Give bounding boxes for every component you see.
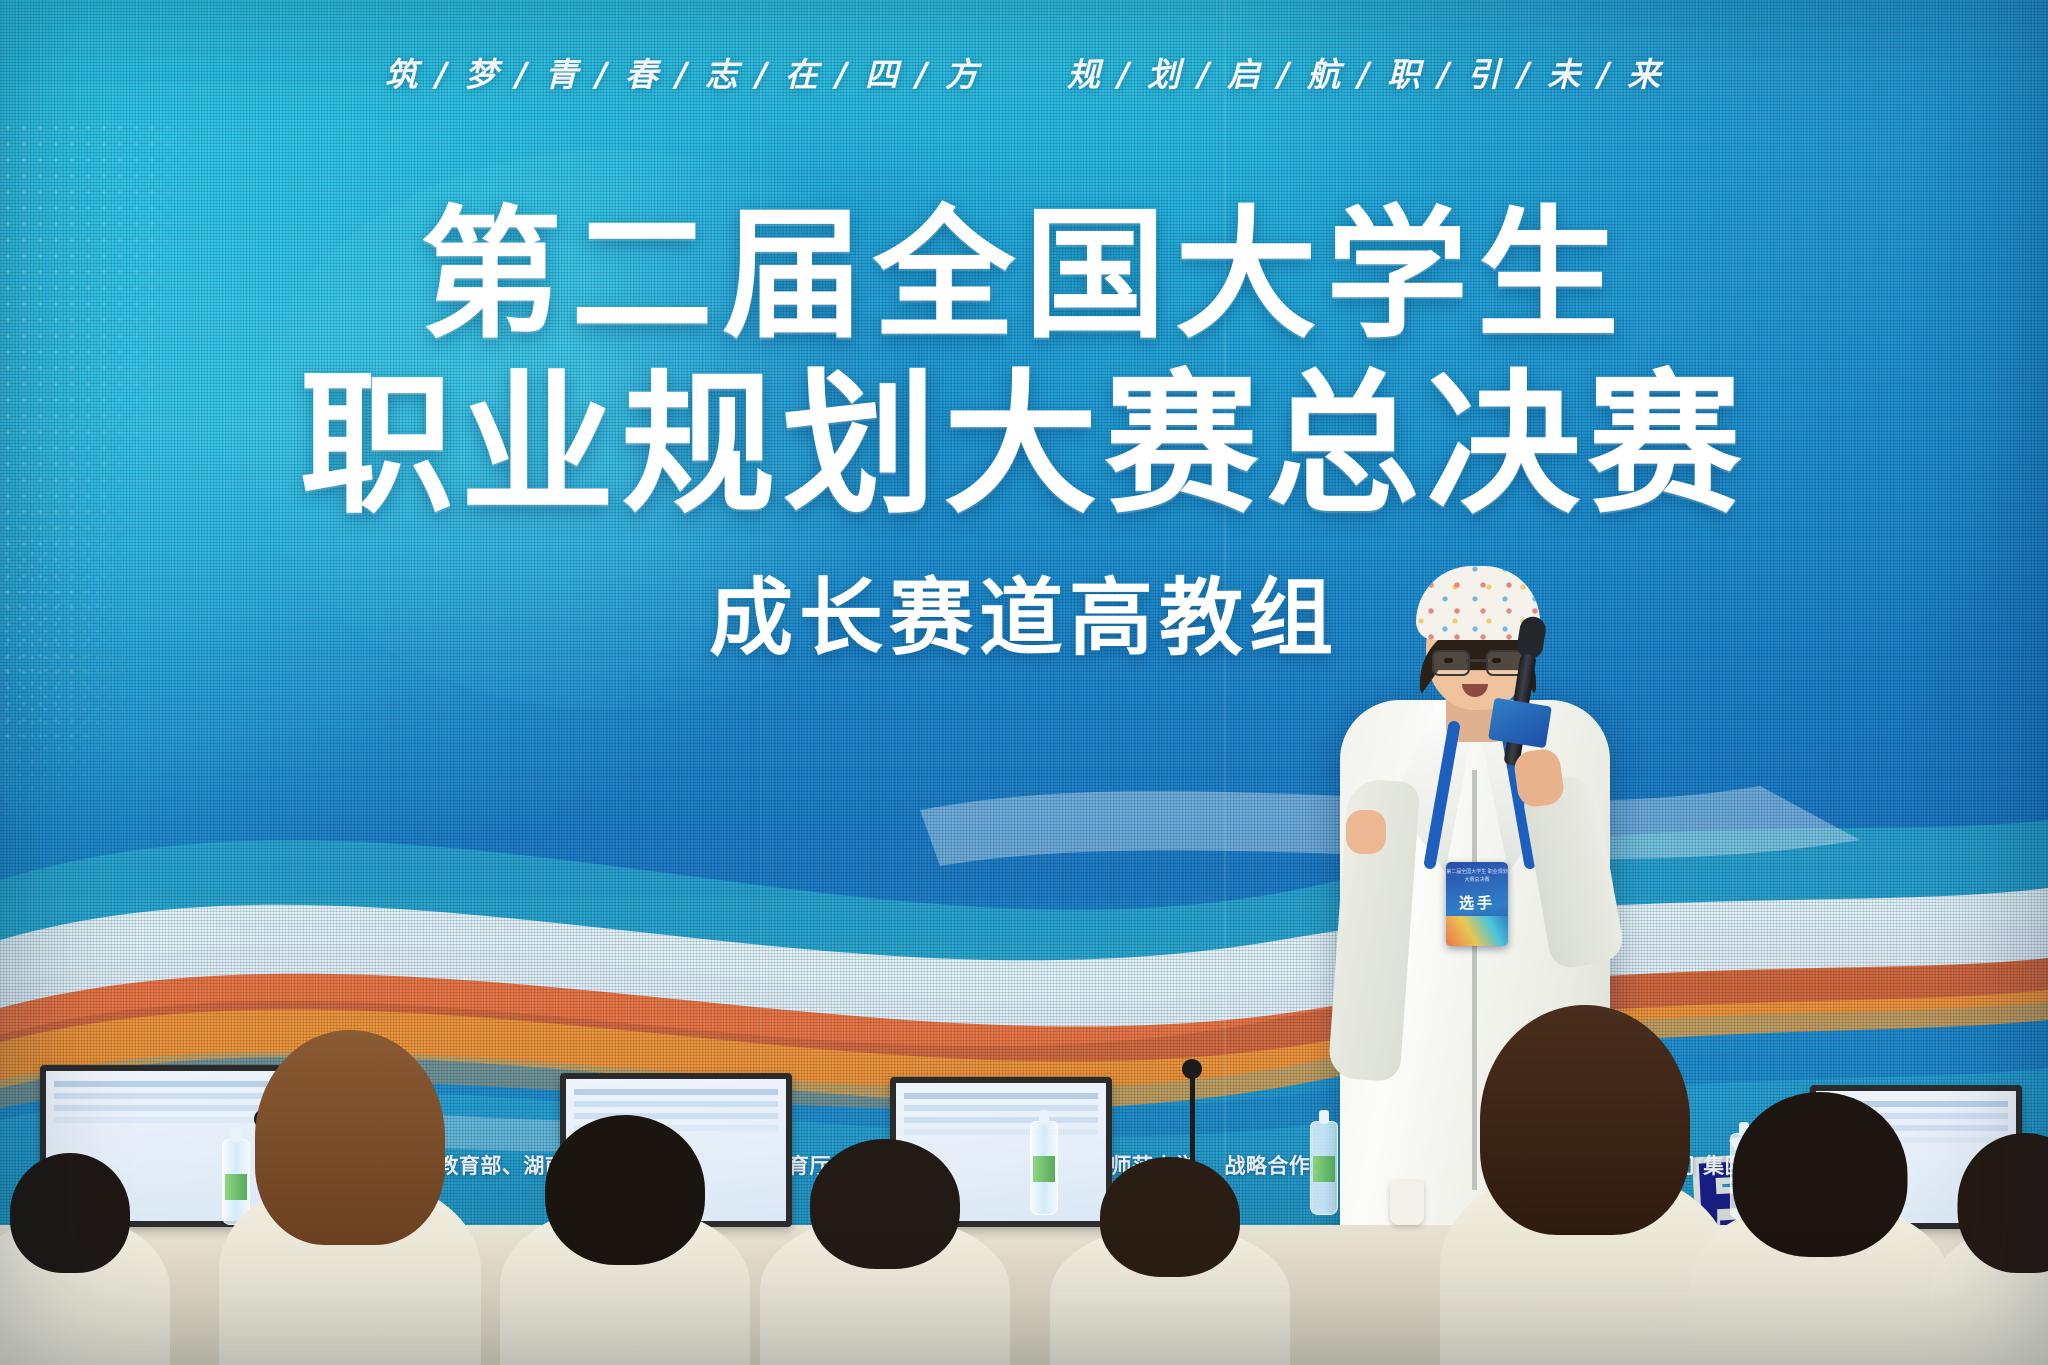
event-title-block: 第二届全国大学生 职业规划大赛总决赛 成长赛道高教组 [0, 205, 2048, 672]
water-bottle-3 [1310, 1121, 1338, 1215]
badge-ribbon-graphic [1446, 916, 1508, 946]
audience-person-4 [760, 1165, 1010, 1365]
slogan-left: 筑 / 梦 / 青 / 春 / 志 / 在 / 四 / 方 [385, 48, 981, 96]
speaker-hand-left [1346, 810, 1386, 854]
audience-person-2 [215, 1065, 485, 1365]
audience-person-5 [1050, 1175, 1290, 1365]
slogan-bar: 筑 / 梦 / 青 / 春 / 志 / 在 / 四 / 方 规 / 划 / 启 … [0, 48, 2048, 96]
title-subtitle: 成长赛道高教组 [0, 551, 2048, 672]
contestant-badge: 第二届全国大学生 职业规划大赛总决赛 选手 [1446, 862, 1508, 946]
audience-person-7 [1690, 1115, 1950, 1365]
audience-person-8 [1930, 1155, 2048, 1365]
audience-person-1 [0, 1185, 170, 1365]
audience-row [0, 1005, 2048, 1365]
badge-event-name: 第二届全国大学生 职业规划大赛总决赛 [1446, 869, 1508, 884]
audience-person-3 [500, 1135, 750, 1365]
speaker-eye-left [1444, 658, 1453, 663]
slogan-right: 规 / 划 / 启 / 航 / 职 / 引 / 未 / 来 [1067, 48, 1663, 96]
title-line-1: 第二届全国大学生 [0, 205, 2048, 347]
speaker-eye-right [1492, 658, 1501, 663]
screenshot-root: 筑 / 梦 / 青 / 春 / 志 / 在 / 四 / 方 规 / 划 / 启 … [0, 0, 2048, 1365]
badge-role-label: 选手 [1446, 892, 1508, 913]
audience-person-6 [1440, 1035, 1730, 1365]
title-line-2: 职业规划大赛总决赛 [0, 369, 2048, 523]
paper-cup [1390, 1181, 1424, 1225]
